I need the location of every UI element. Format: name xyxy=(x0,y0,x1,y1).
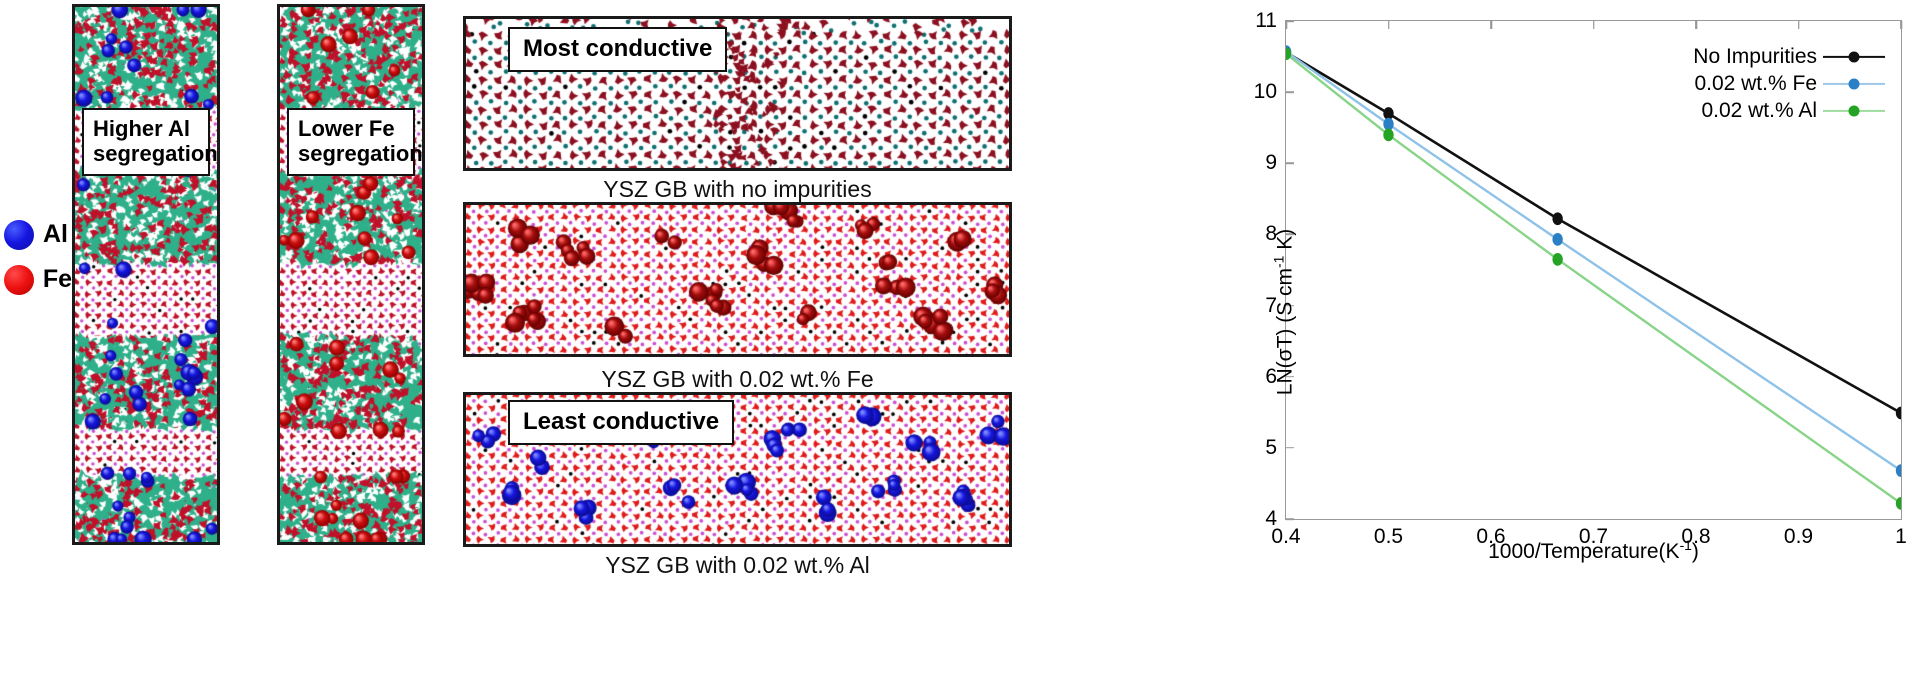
plot-area: No Impurities 0.02 wt.% Fe 0.02 wt.% Al xyxy=(1285,20,1902,520)
legend-entry-al: 0.02 wt.% Al xyxy=(1693,97,1885,124)
legend-label-al: 0.02 wt.% Al xyxy=(1701,99,1817,123)
legend-entry-fe: 0.02 wt.% Fe xyxy=(1693,70,1885,97)
x-tick-mark-top xyxy=(1798,21,1800,29)
legend-label-no-impurities: No Impurities xyxy=(1693,45,1817,69)
x-tick-mark-top xyxy=(1593,21,1595,29)
y-tick-label: 5 xyxy=(1265,436,1277,460)
badge-least-conductive: Least conductive xyxy=(508,400,734,445)
label-higher-al-segregation: Higher Alsegregation xyxy=(82,108,210,176)
atomistic-canvas-al-column xyxy=(75,7,217,542)
species-label-fe: Fe xyxy=(43,265,72,294)
atomistic-canvas-fe-column xyxy=(280,7,422,542)
data-point xyxy=(1896,464,1901,477)
data-point xyxy=(1896,407,1901,420)
legend-entry-no-impurities: No Impurities xyxy=(1693,43,1885,70)
strip-panel-fe xyxy=(463,202,1012,357)
data-point xyxy=(1552,212,1562,225)
y-tick-label: 10 xyxy=(1254,80,1277,104)
legend-label-fe: 0.02 wt.% Fe xyxy=(1694,72,1817,96)
column-panel-higher-al xyxy=(72,4,220,545)
x-axis-label-text: 1000/Temperature(K-1) xyxy=(1488,540,1699,563)
caption-no-impurities: YSZ GB with no impurities xyxy=(463,176,1012,203)
caption-al: YSZ GB with 0.02 wt.% Al xyxy=(463,552,1012,579)
species-legend: Al Fe xyxy=(0,212,72,302)
x-tick-mark-top xyxy=(1388,21,1390,29)
y-tick-label: 11 xyxy=(1255,9,1277,33)
species-legend-item-al: Al xyxy=(0,212,72,257)
arrhenius-conductivity-chart: No Impurities 0.02 wt.% Fe 0.02 wt.% Al xyxy=(1205,8,1910,616)
y-tick-label: 9 xyxy=(1265,151,1277,175)
y-tick-mark xyxy=(1286,162,1294,164)
data-point xyxy=(1552,253,1562,266)
chart-legend: No Impurities 0.02 wt.% Fe 0.02 wt.% Al xyxy=(1693,43,1885,124)
species-legend-item-fe: Fe xyxy=(0,257,72,302)
al-dot-icon xyxy=(4,220,34,250)
y-tick-mark xyxy=(1286,91,1294,93)
fe-dot-icon xyxy=(4,265,34,295)
y-tick-mark xyxy=(1286,447,1294,449)
caption-fe: YSZ GB with 0.02 wt.% Fe xyxy=(463,366,1012,393)
x-axis-label: 1000/Temperature(K-1) xyxy=(1285,537,1902,564)
x-tick-mark-top xyxy=(1490,21,1492,29)
atomistic-canvas-fe xyxy=(466,205,1009,354)
x-tick-mark-top xyxy=(1285,21,1287,29)
y-axis-label: LN(σT) (S cm-1 K) xyxy=(1271,229,1298,395)
species-label-al: Al xyxy=(43,220,68,249)
x-tick-mark-top xyxy=(1900,21,1902,29)
data-point xyxy=(1383,128,1393,141)
column-panel-lower-fe xyxy=(277,4,425,545)
y-tick-mark xyxy=(1286,20,1294,22)
legend-swatch-no-impurities xyxy=(1823,50,1885,64)
data-point xyxy=(1552,233,1562,246)
badge-most-conductive: Most conductive xyxy=(508,27,727,72)
y-tick-mark xyxy=(1286,518,1294,520)
x-tick-mark-top xyxy=(1695,21,1697,29)
legend-swatch-al xyxy=(1823,104,1885,118)
label-lower-fe-segregation: Lower Fesegregation xyxy=(287,108,415,176)
y-axis-label-text: LN(σT) (S cm-1 K) xyxy=(1274,229,1297,395)
legend-swatch-fe xyxy=(1823,77,1885,91)
